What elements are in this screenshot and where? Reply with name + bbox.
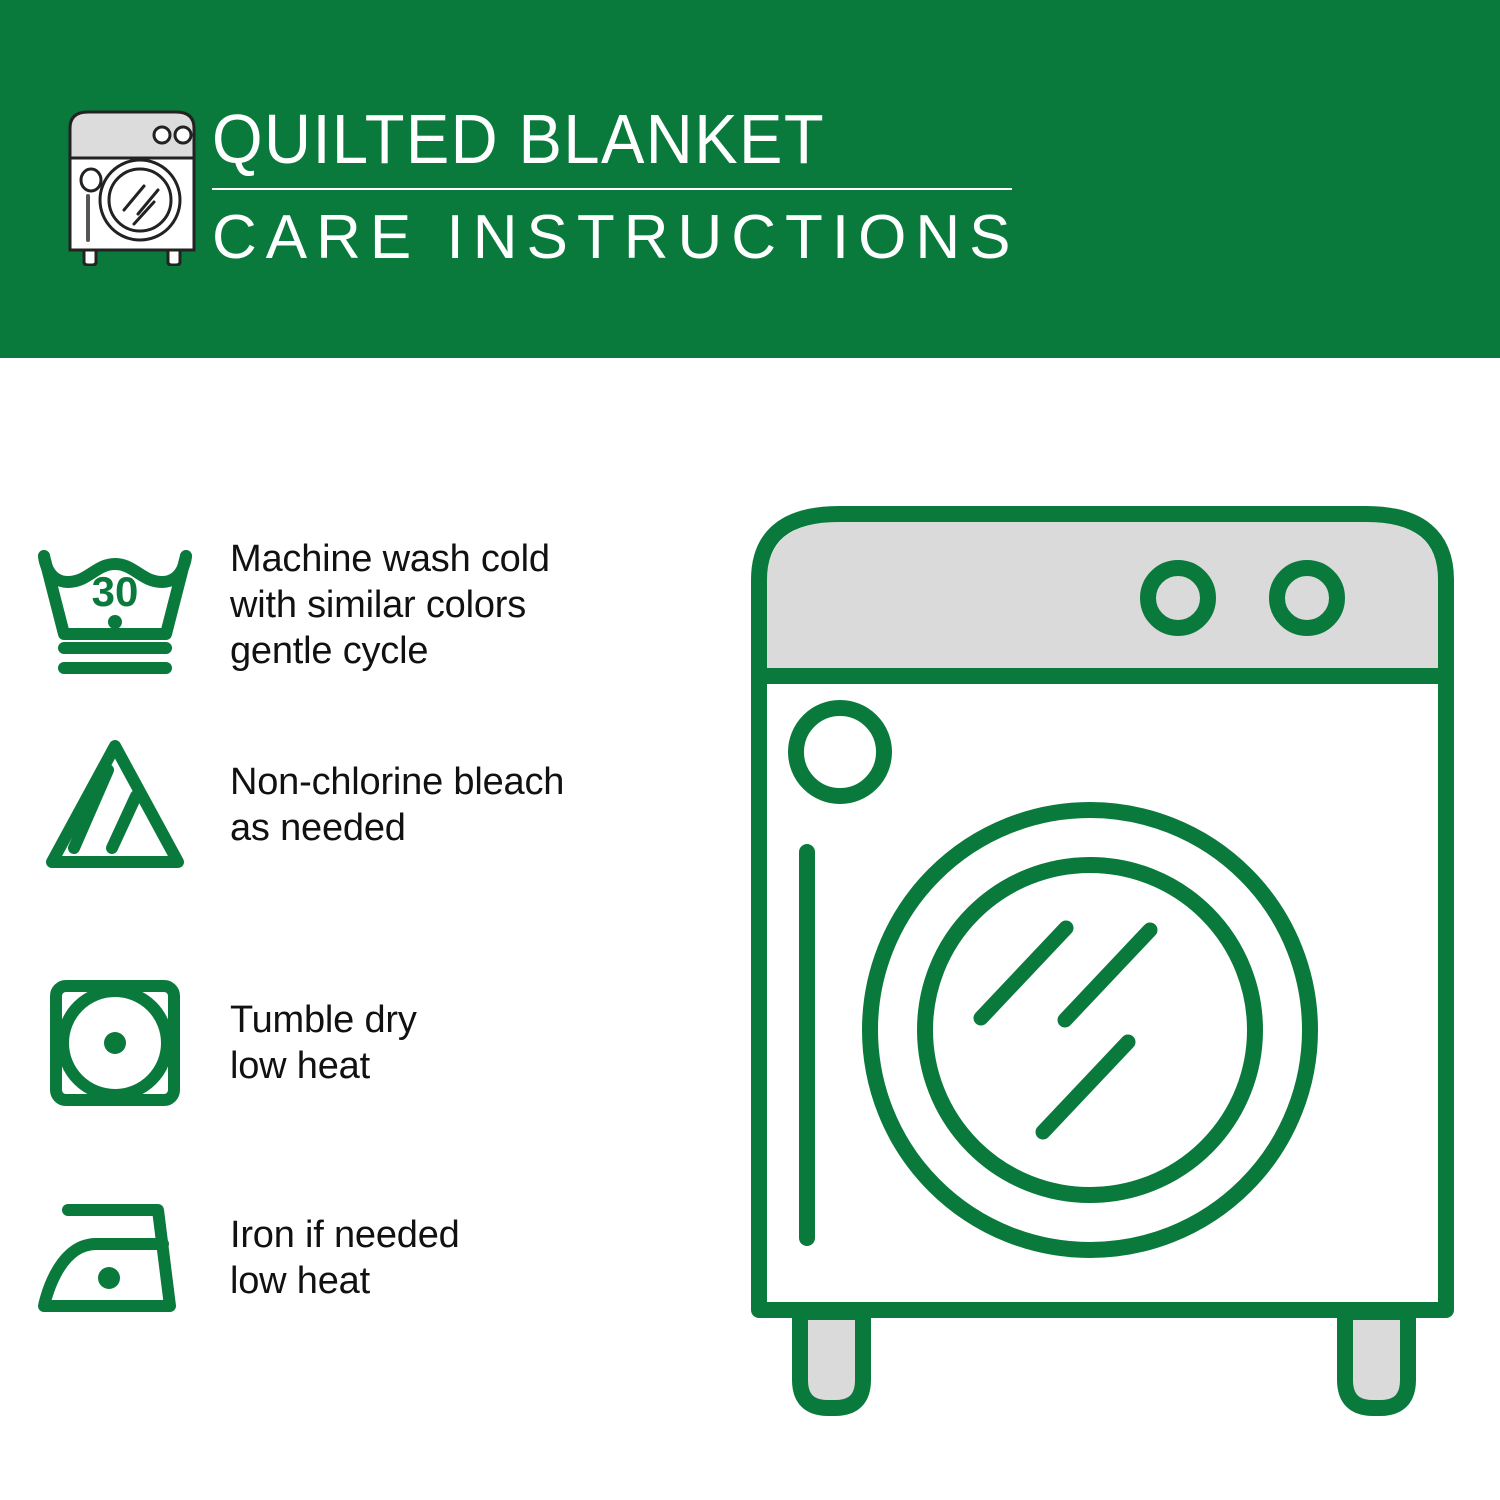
wash-tub-30-gentle-icon: 30 [0, 530, 230, 680]
care-row: Tumble dry low heat [0, 958, 740, 1128]
care-instruction-list: 30 Machine wash cold with similar colors… [0, 358, 740, 1500]
care-row: 30 Machine wash cold with similar colors… [0, 520, 740, 690]
tumble-dry-low-heat-icon [0, 968, 230, 1118]
care-row: Iron if needed low heat [0, 1178, 740, 1338]
washing-machine-icon [62, 104, 202, 266]
care-instructions-infographic: QUILTED BLANKET CARE INSTRUCTIONS 30 [0, 0, 1500, 1500]
front-load-washing-machine-illustration [745, 500, 1460, 1425]
header-banner: QUILTED BLANKET CARE INSTRUCTIONS [0, 0, 1500, 358]
care-text: Tumble dry low heat [230, 997, 417, 1089]
iron-low-heat-icon [0, 1188, 230, 1328]
care-row: Non-chlorine bleach as needed [0, 720, 740, 890]
header-text-block: QUILTED BLANKET CARE INSTRUCTIONS [212, 100, 1032, 274]
wash-temperature-label: 30 [92, 568, 139, 615]
leg-right [1345, 1312, 1408, 1408]
page-subtitle: CARE INSTRUCTIONS [212, 202, 1032, 274]
header-divider [212, 188, 1012, 190]
page-title: QUILTED BLANKET [212, 100, 975, 178]
leg-left [800, 1312, 863, 1408]
care-text: Non-chlorine bleach as needed [230, 759, 564, 851]
care-text: Iron if needed low heat [230, 1212, 460, 1304]
non-chlorine-bleach-triangle-icon [0, 730, 230, 880]
care-text: Machine wash cold with similar colors ge… [230, 536, 550, 674]
